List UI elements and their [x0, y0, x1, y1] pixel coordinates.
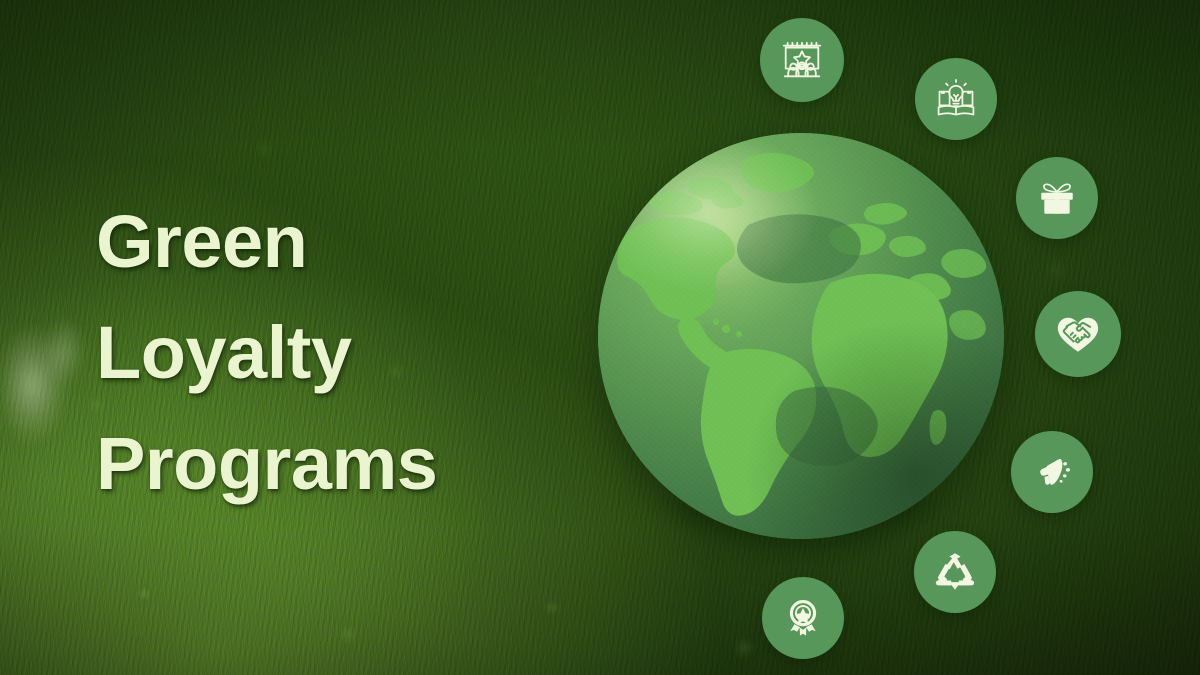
- megaphone-icon: [1031, 451, 1073, 493]
- award-ribbon-star-icon: [782, 597, 824, 639]
- earth-globe: [598, 133, 1004, 539]
- recycle-icon: [933, 550, 977, 594]
- page-title: Green Loyalty Programs: [96, 186, 576, 519]
- badge-partnership[interactable]: [1035, 291, 1121, 377]
- gift-box-icon: [1036, 177, 1078, 219]
- globe-sphere: [598, 133, 1004, 539]
- lightbulb-book-idea-icon: [934, 77, 978, 121]
- badge-green-innovation[interactable]: [915, 58, 997, 140]
- banner-canvas: Green Loyalty Programs: [0, 0, 1200, 675]
- title-line-2: Loyalty: [96, 297, 576, 408]
- title-line-3: Programs: [96, 408, 576, 519]
- badge-customer-engagement[interactable]: [760, 18, 844, 102]
- badge-rewards[interactable]: [1016, 157, 1098, 239]
- handshake-heart-icon: [1055, 311, 1101, 357]
- badge-recycling[interactable]: [914, 531, 996, 613]
- badge-achievement[interactable]: [762, 577, 844, 659]
- title-line-1: Green: [96, 186, 576, 297]
- globe-surface-grain: [598, 133, 1004, 539]
- presentation-star-audience-icon: [779, 37, 825, 83]
- badge-promotion[interactable]: [1011, 431, 1093, 513]
